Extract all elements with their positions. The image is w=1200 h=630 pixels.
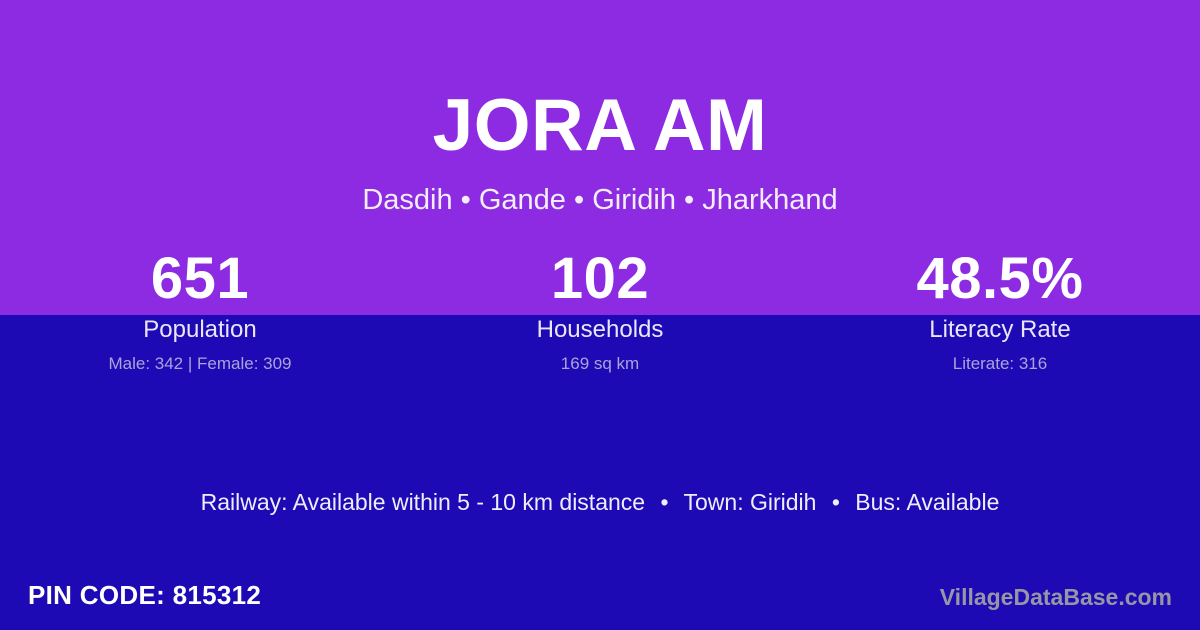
- infrastructure-railway: Railway: Available within 5 - 10 km dist…: [201, 489, 645, 515]
- site-watermark: VillageDataBase.com: [940, 582, 1172, 612]
- stats-row: 651 Population Male: 342 | Female: 309 1…: [0, 246, 1200, 375]
- infrastructure-bus: Bus: Available: [855, 489, 999, 515]
- stat-population-value: 651: [0, 246, 400, 312]
- stat-households-label: Households: [400, 315, 800, 345]
- stat-literacy-label: Literacy Rate: [800, 315, 1200, 345]
- stat-population-detail: Male: 342 | Female: 309: [0, 353, 400, 375]
- pin-code-label: PIN CODE: 815312: [28, 579, 261, 611]
- stat-households: 102 Households 169 sq km: [400, 246, 800, 375]
- infrastructure-separator-2: •: [823, 487, 849, 517]
- stat-literacy: 48.5% Literacy Rate Literate: 316: [800, 246, 1200, 375]
- infrastructure-separator-1: •: [651, 487, 677, 517]
- infrastructure-town: Town: Giridih: [684, 489, 817, 515]
- card-footer: PIN CODE: 815312 VillageDataBase.com: [0, 575, 1200, 630]
- stat-population: 651 Population Male: 342 | Female: 309: [0, 246, 400, 375]
- page-title: JORA AM: [0, 83, 1200, 169]
- stat-population-label: Population: [0, 315, 400, 345]
- stat-literacy-detail: Literate: 316: [800, 353, 1200, 375]
- breadcrumb: Dasdih • Gande • Giridih • Jharkhand: [0, 182, 1200, 218]
- stat-households-detail: 169 sq km: [400, 353, 800, 375]
- village-info-card: JORA AM Dasdih • Gande • Giridih • Jhark…: [0, 0, 1200, 630]
- stat-households-value: 102: [400, 246, 800, 312]
- stat-literacy-value: 48.5%: [800, 246, 1200, 312]
- infrastructure-line: Railway: Available within 5 - 10 km dist…: [0, 487, 1200, 517]
